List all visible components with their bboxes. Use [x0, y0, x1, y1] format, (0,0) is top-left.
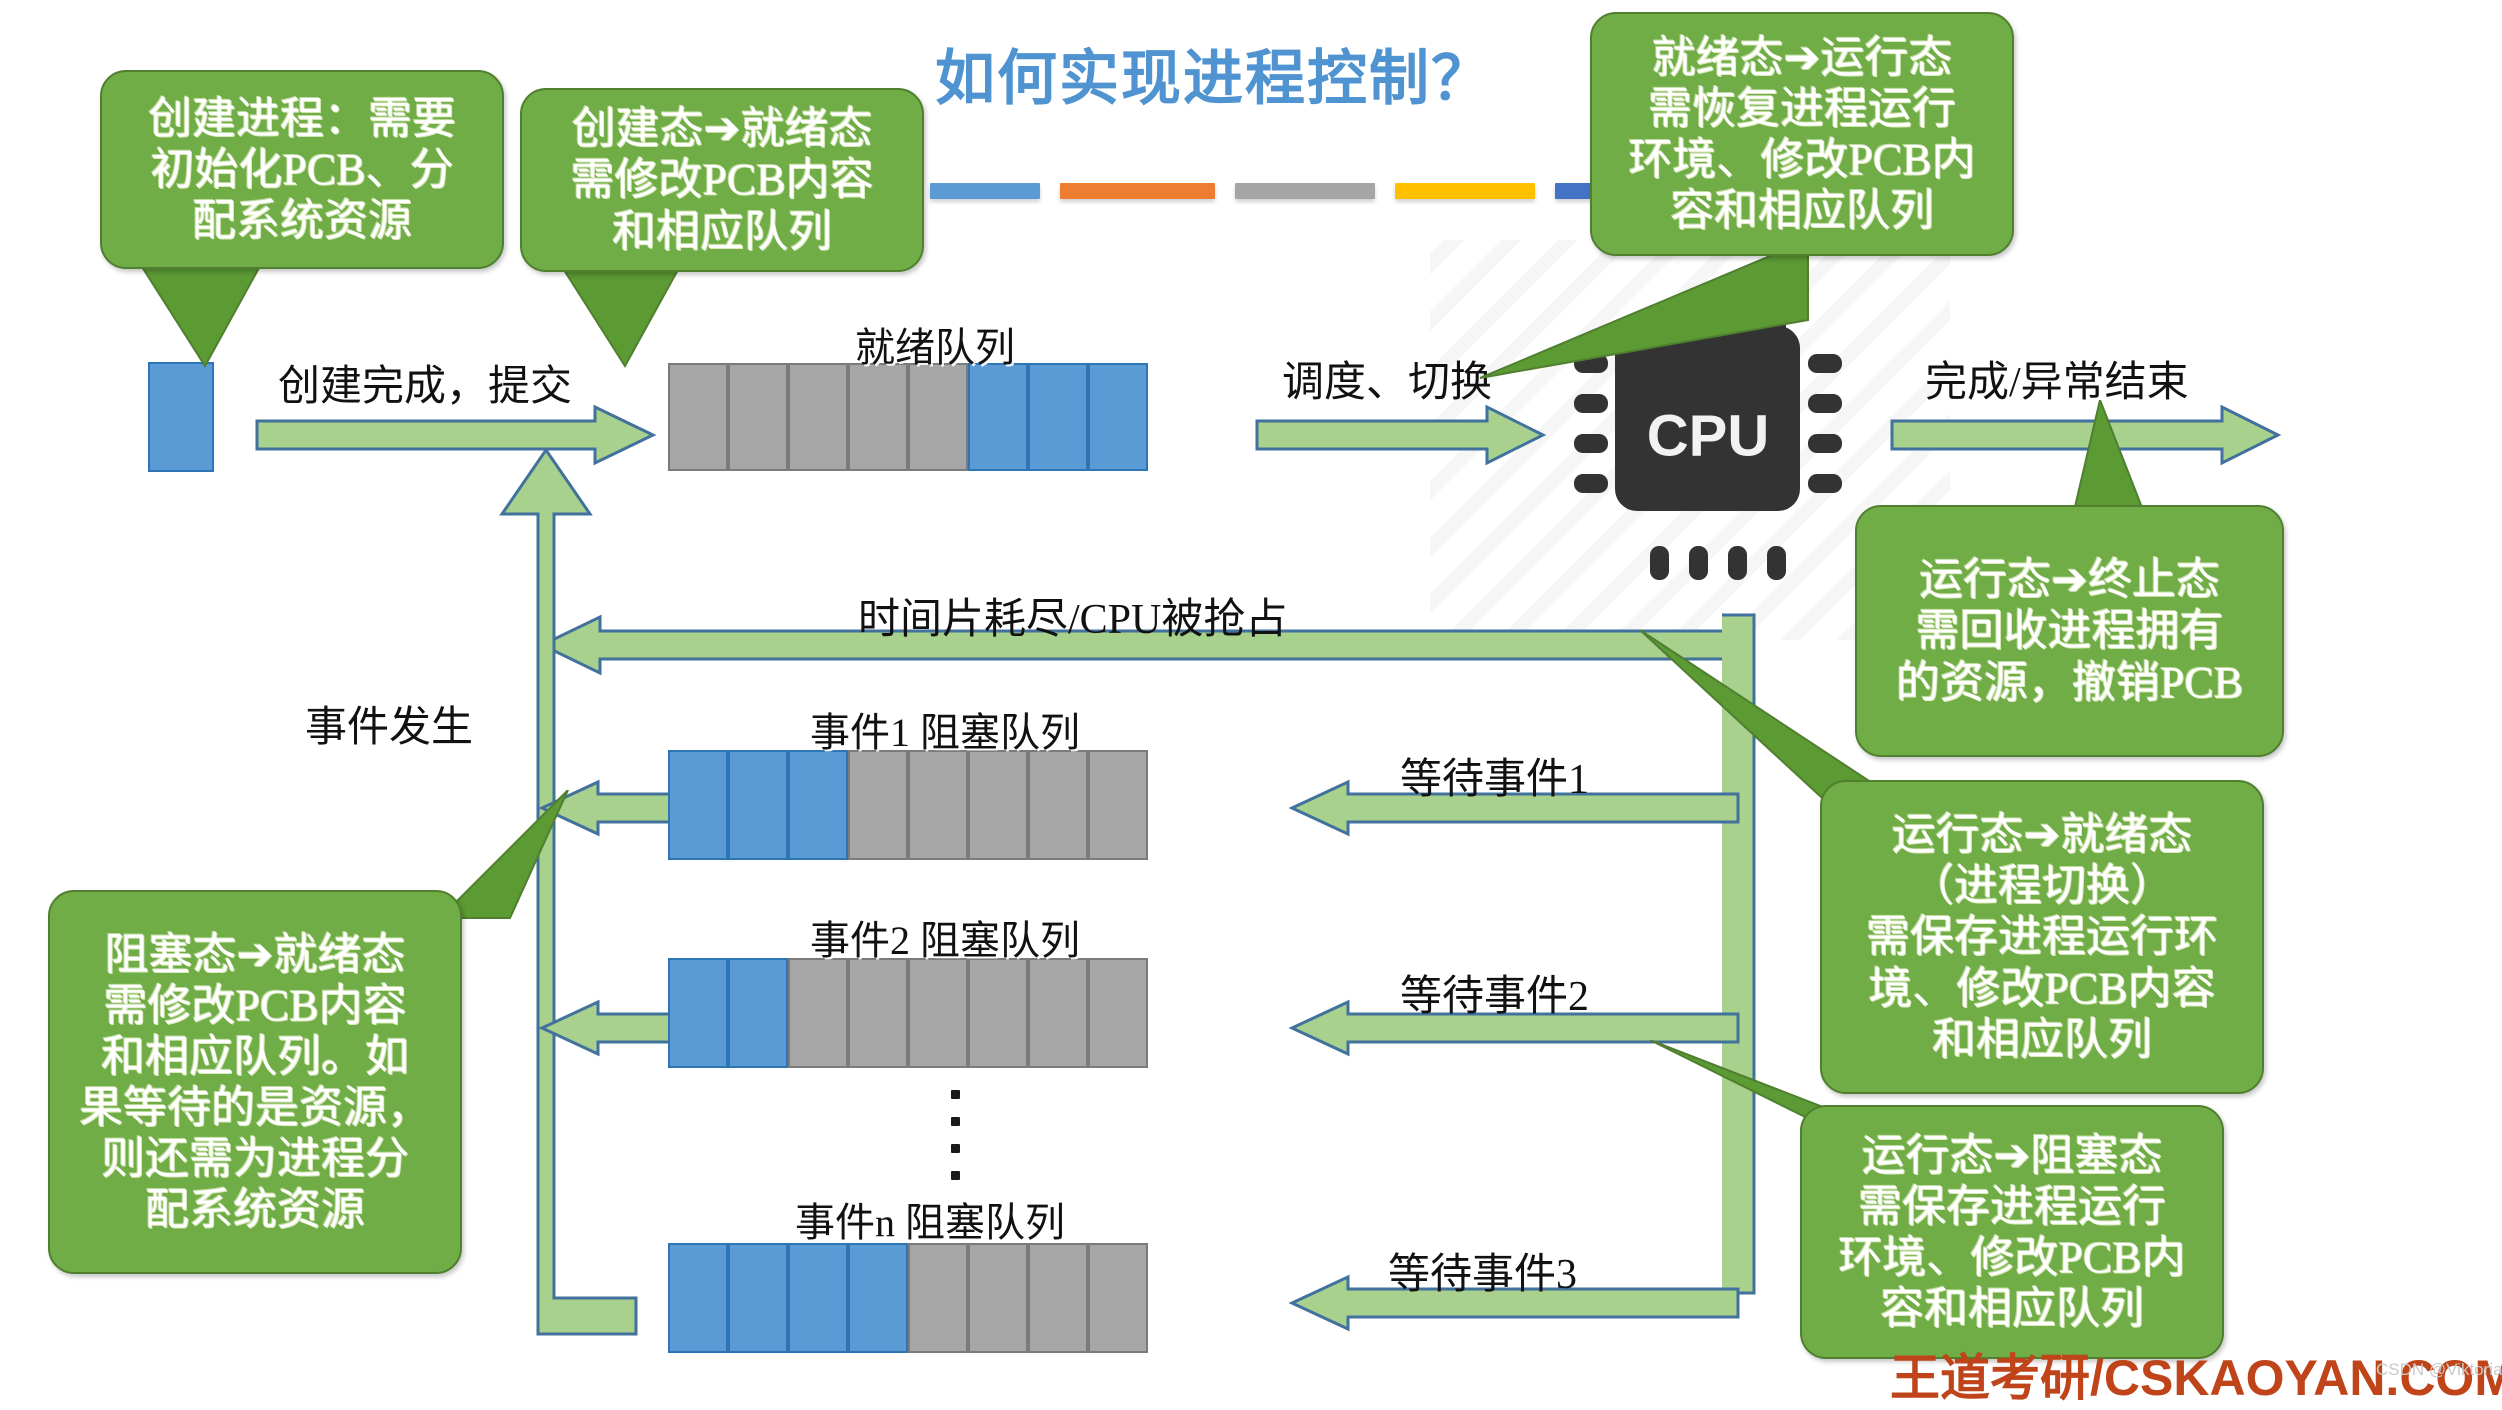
queue-cell	[1028, 1243, 1088, 1353]
block-queue-n	[668, 1243, 1148, 1353]
callout-text: 就绪态➔运行态 需恢复进程运行 环境、修改PCB内 容和相应队列	[1592, 32, 2012, 236]
queue-cell	[728, 958, 788, 1068]
label-event-occurs: 事件发生	[305, 693, 473, 754]
callout-text: 阻塞态➔就绪态 需修改PCB内容 和相应队列。如 果等待的是资源， 则还需为进程…	[50, 929, 460, 1235]
queue-cell	[848, 958, 908, 1068]
block-queue-2-label: 事件2 阻塞队列	[810, 908, 1080, 966]
queue-cell	[908, 958, 968, 1068]
queue-cell	[1088, 363, 1148, 471]
callout-text: 运行态➔就绪态 （进程切换） 需保存进程运行环 境、修改PCB内容 和相应队列	[1822, 809, 2262, 1064]
queue-cell	[908, 750, 968, 860]
callout-text: 运行态➔阻塞态 需保存进程运行 环境、修改PCB内 容和相应队列	[1802, 1130, 2222, 1334]
callout-create-to-ready[interactable]: 创建态➔就绪态 需修改PCB内容 和相应队列	[520, 88, 924, 272]
queue-cell	[908, 1243, 968, 1353]
csdn-watermark: CSDN @Viktoriae	[2376, 1360, 2502, 1380]
cpu-label: CPU	[1647, 403, 1769, 468]
page-title: 如何实现进程控制？	[935, 30, 1493, 117]
queue-cell	[728, 1243, 788, 1353]
slide-canvas: 如何实现进程控制？	[0, 0, 2502, 1400]
ready-queue	[668, 363, 1148, 471]
label-timeslice: 时间片耗尽/CPU被抢占	[858, 585, 1287, 646]
queue-cell	[1088, 1243, 1148, 1353]
label-wait-event-1: 等待事件1	[1400, 745, 1589, 806]
segment-bar-4	[1395, 183, 1535, 199]
queue-cell	[728, 363, 788, 471]
queue-cell	[848, 1243, 908, 1353]
queue-cell	[908, 363, 968, 471]
queue-cell	[728, 750, 788, 860]
callout-running-to-terminate[interactable]: 运行态➔终止态 需回收进程拥有 的资源，撤销PCB	[1855, 505, 2284, 757]
segment-bar-3	[1235, 183, 1375, 199]
queue-cell	[788, 1243, 848, 1353]
queue-cell	[788, 363, 848, 471]
block-queue-2	[668, 958, 1148, 1068]
queue-cell	[968, 363, 1028, 471]
callout-text: 创建进程：需要 初始化PCB、分 配系统资源	[102, 93, 502, 246]
queue-cell	[968, 750, 1028, 860]
queue-cell	[668, 1243, 728, 1353]
queue-cell	[788, 958, 848, 1068]
block-queue-1-label: 事件1 阻塞队列	[810, 700, 1080, 758]
segment-bar-1	[930, 183, 1040, 199]
queue-cell	[1088, 958, 1148, 1068]
queue-cell	[848, 750, 908, 860]
label-wait-event-2: 等待事件2	[1400, 962, 1589, 1023]
block-queue-1	[668, 750, 1148, 860]
queue-cell	[1028, 958, 1088, 1068]
callout-ready-to-running[interactable]: 就绪态➔运行态 需恢复进程运行 环境、修改PCB内 容和相应队列	[1590, 12, 2014, 256]
block-queue-n-label: 事件n 阻塞队列	[795, 1190, 1065, 1248]
label-wait-event-3: 等待事件3	[1388, 1240, 1577, 1301]
queue-cell	[848, 363, 908, 471]
queue-cell	[1088, 750, 1148, 860]
queue-cell	[668, 750, 728, 860]
queue-cell	[668, 363, 728, 471]
callout-running-to-ready[interactable]: 运行态➔就绪态 （进程切换） 需保存进程运行环 境、修改PCB内容 和相应队列	[1820, 780, 2264, 1094]
callout-text: 运行态➔终止态 需回收进程拥有 的资源，撤销PCB	[1857, 554, 2282, 707]
queue-cell	[668, 958, 728, 1068]
callout-create-process[interactable]: 创建进程：需要 初始化PCB、分 配系统资源	[100, 70, 504, 269]
new-process-block	[148, 362, 214, 472]
label-schedule: 调度、切换	[1282, 348, 1492, 409]
callout-text: 创建态➔就绪态 需修改PCB内容 和相应队列	[522, 103, 922, 256]
arrow-schedule	[1255, 405, 1545, 465]
vertical-ellipsis-icon	[950, 1090, 960, 1180]
queue-cell	[788, 750, 848, 860]
queue-cell	[968, 1243, 1028, 1353]
callout-running-to-blocked[interactable]: 运行态➔阻塞态 需保存进程运行 环境、修改PCB内 容和相应队列	[1800, 1105, 2224, 1359]
ready-queue-label: 就绪队列	[855, 315, 1015, 373]
queue-cell	[1028, 750, 1088, 860]
label-submit: 创建完成，提交	[278, 352, 572, 413]
segment-bar-2	[1060, 183, 1215, 199]
queue-cell	[968, 958, 1028, 1068]
callout-blocked-to-ready[interactable]: 阻塞态➔就绪态 需修改PCB内容 和相应队列。如 果等待的是资源， 则还需为进程…	[48, 890, 462, 1274]
queue-cell	[1028, 363, 1088, 471]
